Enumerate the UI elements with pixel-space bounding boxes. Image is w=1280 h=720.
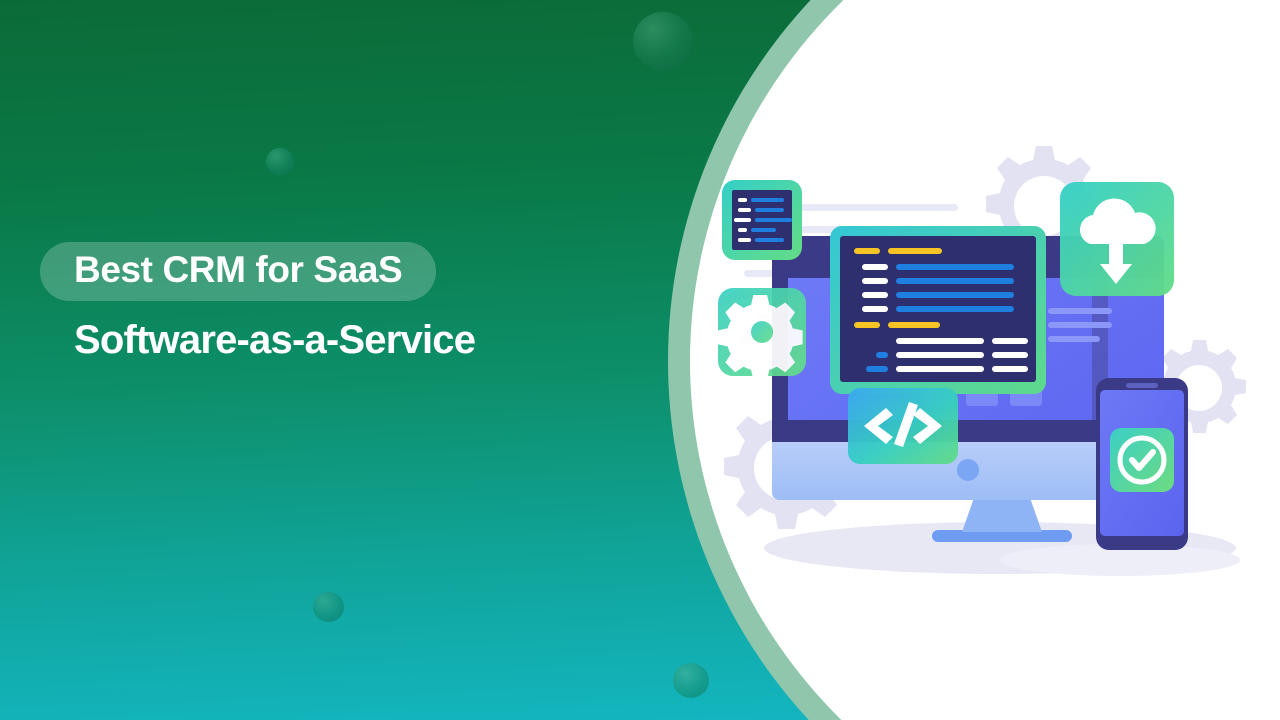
headline-line-1: Best CRM for SaaS [74,251,402,290]
check-circle-card [1110,428,1174,492]
sphere-small-lower-left [313,592,344,622]
sphere-small-upper-left [266,148,294,175]
headline-block: Best CRM for SaaS Software-as-a-Service [40,242,660,361]
sphere-large-top [633,12,693,70]
saas-illustration [700,140,1280,600]
sphere-medium-bottom [673,663,709,698]
headline-pill: Best CRM for SaaS [40,242,436,301]
gear-icon [718,295,803,380]
settings-card [718,288,806,380]
code-brackets-card [848,388,958,464]
code-snippet-card [722,180,802,260]
cloud-download-card [1060,182,1174,296]
mobile-phone [1096,378,1188,550]
banner-root: Best CRM for SaaS Software-as-a-Service [0,0,1280,720]
code-editor-window [830,226,1046,394]
headline-line-2: Software-as-a-Service [74,319,660,361]
